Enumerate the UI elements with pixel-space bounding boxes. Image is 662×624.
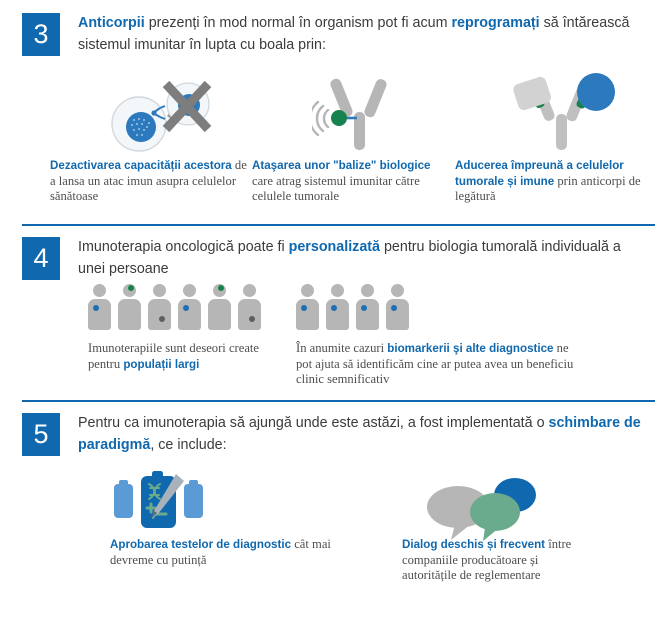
headline-text: Imunoterapia oncologică poate fi — [78, 239, 289, 255]
section-5: 5 Pentru ca imunoterapia să ajungă unde … — [0, 400, 662, 624]
caption-3-3: Aducerea împreună a celulelor tumorale ș… — [455, 158, 655, 205]
person-head — [183, 284, 196, 297]
person-body — [326, 299, 349, 330]
person-head — [331, 284, 344, 297]
people-group-six-icon — [88, 284, 263, 334]
marker-dot-belly-grey — [249, 316, 255, 322]
antibody-blocked-icon — [108, 72, 228, 154]
marker-dot-chest-blue — [301, 305, 307, 311]
marker-dot-chest-blue — [391, 305, 397, 311]
person-head — [301, 284, 314, 297]
section-4: 4 Imunoterapia oncologică poate fi perso… — [0, 224, 662, 400]
person-body — [178, 299, 201, 330]
caption-emphasis: biomarkerii şi alte diagnostice — [387, 342, 553, 355]
section-number-badge-4: 4 — [22, 237, 60, 280]
person-body — [148, 299, 171, 330]
headline-text: Pentru ca imunoterapia să ajungă unde es… — [78, 415, 549, 431]
person-head — [243, 284, 256, 297]
section-headline-5: Pentru ca imunoterapia să ajungă unde es… — [78, 412, 648, 456]
caption-5-1: Aprobarea testelor de diagnostic cât mai… — [110, 537, 340, 568]
section-headline-4: Imunoterapia oncologică poate fi persona… — [78, 236, 648, 280]
person-head — [93, 284, 106, 297]
person-figure — [88, 284, 111, 330]
person-figure — [208, 284, 231, 330]
headline-emphasis: Anticorpii — [78, 15, 145, 31]
person-body — [208, 299, 231, 330]
caption-3-1: Dezactivarea capacității acestora de a l… — [50, 158, 250, 205]
person-figure — [148, 284, 171, 330]
person-figure — [296, 284, 319, 330]
section-divider — [22, 400, 655, 402]
caption-emphasis: Aprobarea testelor de diagnostic — [110, 538, 291, 551]
headline-text: , ce include: — [150, 437, 226, 453]
speech-bubbles-dialog-icon — [425, 478, 545, 543]
person-figure — [356, 284, 379, 330]
caption-3-2: Ataşarea unor "balize" biologice care at… — [252, 158, 452, 205]
section-number-badge-5: 5 — [22, 413, 60, 456]
section-number-badge-3: 3 — [22, 13, 60, 56]
person-figure — [178, 284, 201, 330]
person-body — [118, 299, 141, 330]
person-head — [391, 284, 404, 297]
caption-emphasis: Ataşarea unor "balize" biologice — [252, 159, 431, 172]
caption-5-2: Dialog deschis și frecvent între compani… — [402, 537, 582, 584]
person-body — [296, 299, 319, 330]
caption-4-1: Imunoterapiile sunt deseori create pentr… — [88, 341, 263, 372]
person-head — [361, 284, 374, 297]
antibody-beacon-icon — [312, 72, 412, 154]
section-headline-3: Anticorpii prezenți în mod normal în org… — [78, 12, 648, 56]
clipboards-diagnostic-icon — [110, 470, 215, 540]
caption-emphasis: Dialog deschis și frecvent — [402, 538, 545, 551]
antibody-bridge-icon — [512, 72, 622, 154]
person-figure — [118, 284, 141, 330]
caption-emphasis: populații largi — [123, 358, 199, 371]
caption-text: În anumite cazuri — [296, 341, 387, 355]
section-divider — [22, 224, 655, 226]
headline-text: prezenți în mod normal în organism pot f… — [145, 15, 452, 31]
person-body — [356, 299, 379, 330]
marker-dot-chest-blue — [361, 305, 367, 311]
person-figure — [386, 284, 409, 330]
infographic-page: 3 Anticorpii prezenți în mod normal în o… — [0, 0, 662, 624]
section-3: 3 Anticorpii prezenți în mod normal în o… — [0, 0, 662, 224]
headline-emphasis: personalizată — [289, 239, 380, 255]
caption-4-2: În anumite cazuri biomarkerii şi alte di… — [296, 341, 586, 388]
marker-dot-chest-blue — [331, 305, 337, 311]
marker-dot-chest-blue — [93, 305, 99, 311]
marker-dot-head-green — [218, 285, 224, 291]
marker-dot-belly-grey — [159, 316, 165, 322]
marker-dot-head-green — [128, 285, 134, 291]
person-body — [88, 299, 111, 330]
person-figure — [238, 284, 261, 330]
person-head — [153, 284, 166, 297]
person-body — [386, 299, 409, 330]
caption-text: care atrag sistemul imunitar către celul… — [252, 174, 420, 204]
person-figure — [326, 284, 349, 330]
marker-dot-chest-blue — [183, 305, 189, 311]
caption-emphasis: Dezactivarea capacității acestora — [50, 159, 232, 172]
people-group-four-icon — [296, 284, 411, 334]
headline-emphasis: reprogramați — [451, 15, 539, 31]
person-body — [238, 299, 261, 330]
